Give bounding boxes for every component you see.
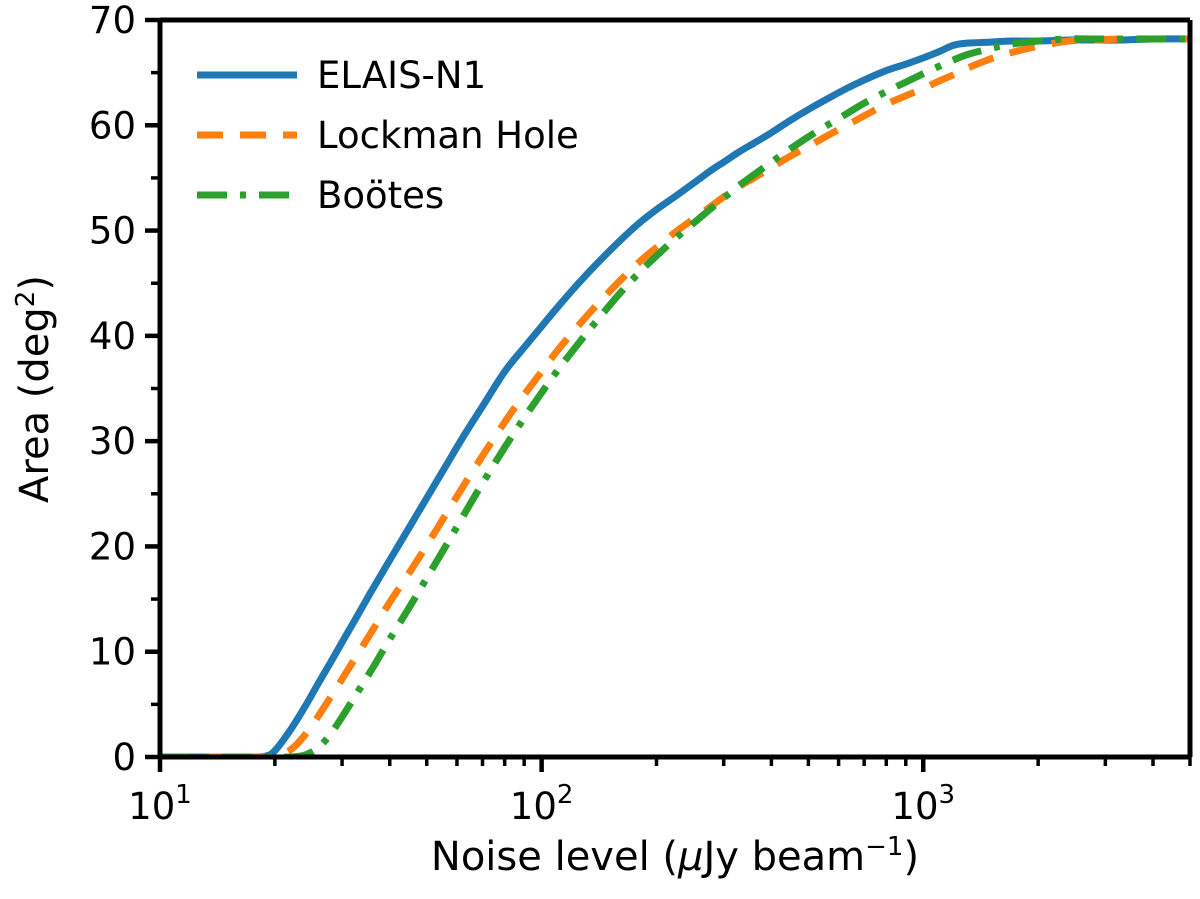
x-axis-title-mid: Jy beam	[700, 834, 865, 880]
y-axis-title: Area (deg2)	[11, 275, 58, 503]
y-tick-label: 70	[89, 0, 136, 42]
x-tick-label: 101	[128, 780, 192, 828]
plot-area-background	[160, 20, 1190, 757]
y-tick-label: 30	[89, 420, 136, 463]
y-axis-title-end: )	[12, 275, 58, 291]
y-tick-label: 20	[89, 525, 136, 568]
legend-label-bo-tes: Boötes	[317, 174, 444, 217]
legend-label-lockman-hole: Lockman Hole	[317, 114, 579, 157]
legend-label-elais-n1: ELAIS-N1	[317, 54, 486, 97]
y-tick-label: 40	[89, 315, 136, 358]
x-tick-label: 102	[510, 780, 574, 828]
figure-canvas: 101102103010203040506070 Area (deg2) Noi…	[0, 0, 1200, 899]
y-tick-label: 0	[112, 736, 136, 779]
y-tick-label: 50	[89, 210, 136, 253]
noise-area-chart: 101102103010203040506070 Area (deg2) Noi…	[0, 0, 1200, 899]
x-axis-title-end: )	[903, 834, 919, 880]
x-axis-title-exponent: −1	[865, 832, 903, 862]
x-axis-title-base: Noise level (	[431, 834, 678, 880]
y-axis-title-base: Area (deg	[12, 307, 58, 503]
x-axis-title-mu: μ	[677, 834, 703, 880]
y-tick-label: 60	[89, 104, 136, 147]
svg-text:Noise level (μJy beam−1): Noise level (μJy beam−1)	[431, 832, 919, 880]
x-tick-label: 103	[891, 780, 955, 828]
y-tick-label: 10	[89, 631, 136, 674]
y-axis-title-exponent: 2	[11, 291, 41, 308]
x-axis-title: Noise level (μJy beam−1)	[431, 832, 919, 880]
svg-text:Area (deg2): Area (deg2)	[11, 275, 58, 503]
